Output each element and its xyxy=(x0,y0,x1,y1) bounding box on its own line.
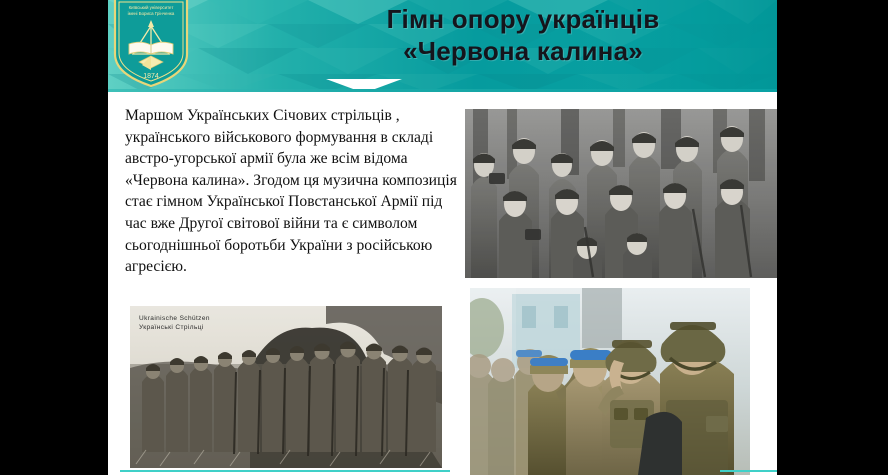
modern-ukrainian-soldiers-photo xyxy=(470,288,750,475)
photo-caption-sich-uk: Українські Стрільці xyxy=(139,323,210,332)
emblem-institution-line1: Київський університет xyxy=(129,5,174,10)
presentation-slide: Київський університет імені Бориса Грінч… xyxy=(108,0,777,475)
university-emblem: Київський університет імені Бориса Грінч… xyxy=(109,0,193,88)
slide-title-line-2: «Червона калина» xyxy=(288,35,758,67)
photo-caption-sich-de: Ukrainische Schützen xyxy=(139,314,210,323)
banner-bottom-line xyxy=(108,89,777,92)
screenshot-stage: Київський університет імені Бориса Грінч… xyxy=(0,0,888,475)
slide-header-banner: Київський університет імені Бориса Грінч… xyxy=(108,0,777,92)
slide-title-line-1: Гімн опору українців xyxy=(288,3,758,35)
upa-insurgents-group-photo xyxy=(465,109,777,278)
slide-body-text: Маршом Українських Січових стрільців , у… xyxy=(125,105,465,278)
emblem-founded-year: 1874 xyxy=(143,73,159,80)
photo-caption-sich: Ukrainische Schützen Українські Стрільці xyxy=(139,314,210,332)
photo-underline-left xyxy=(120,470,450,472)
ukrainian-sich-riflemen-photo: Ukrainische Schützen Українські Стрільці xyxy=(130,306,442,468)
emblem-institution-line2: імені Бориса Грінченка xyxy=(128,11,175,16)
photo-underline-right xyxy=(720,470,777,472)
slide-title: Гімн опору українців «Червона калина» xyxy=(288,3,758,67)
